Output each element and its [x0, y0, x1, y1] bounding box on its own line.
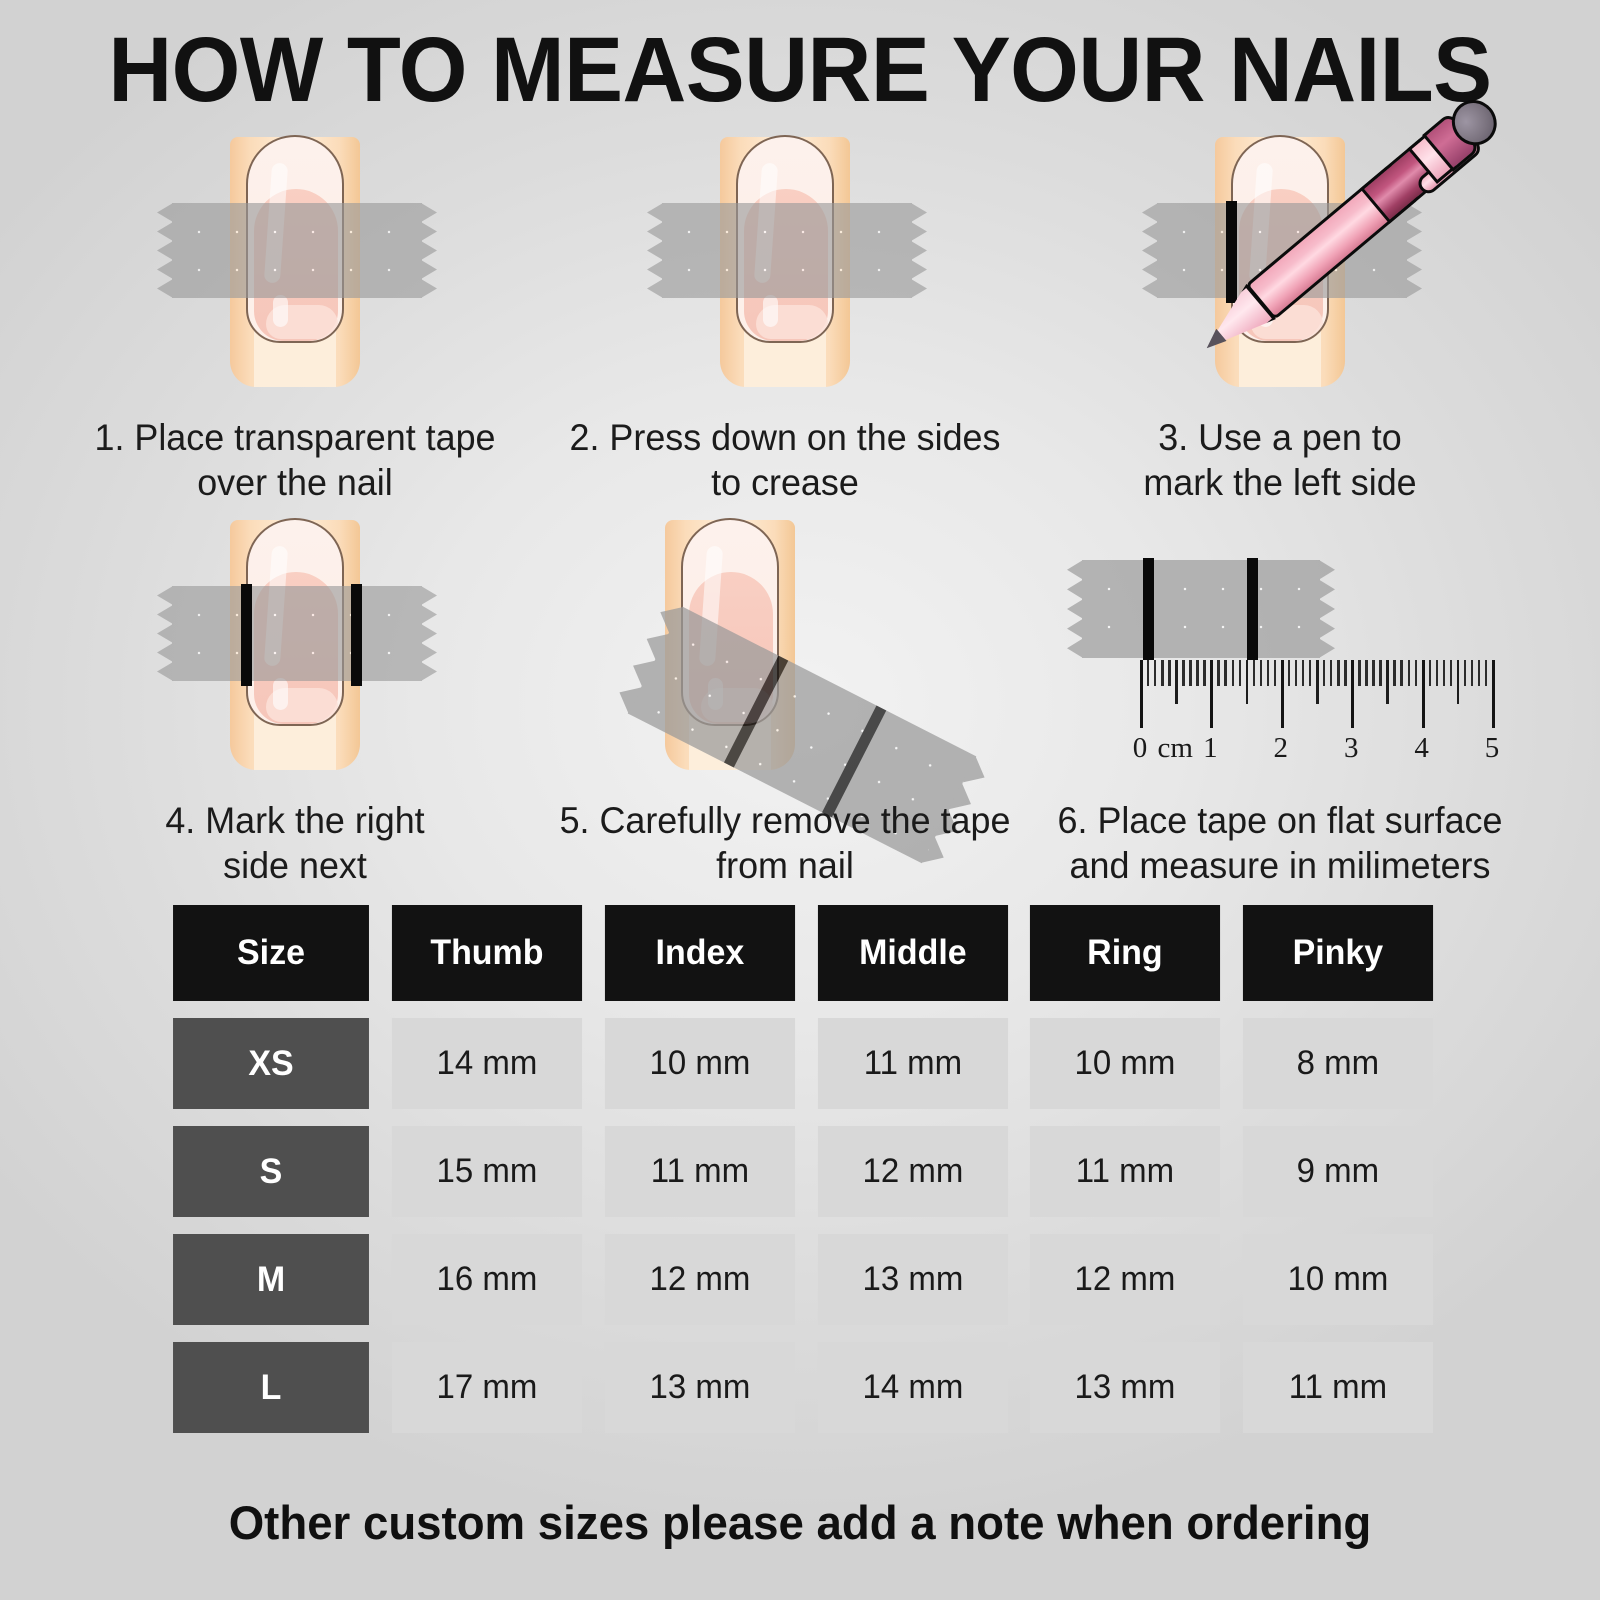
table-cell: 13 mm	[1030, 1342, 1220, 1433]
infographic-page: HOW TO MEASURE YOUR NAILS 1. Place trans…	[0, 0, 1600, 1600]
ruler-tick	[1492, 660, 1495, 728]
ruler-tick	[1323, 660, 1325, 686]
step-1-caption-line2: over the nail	[62, 460, 528, 505]
size-label: M	[173, 1234, 369, 1325]
step-6: 012345cm 6. Place tape on flat surface a…	[1040, 508, 1520, 888]
ruler-tick	[1471, 660, 1473, 686]
table-cell: 12 mm	[1030, 1234, 1220, 1325]
step-4-caption-line1: 4. Mark the right	[62, 798, 528, 843]
table-cell: 11 mm	[605, 1126, 795, 1217]
ruler-tick	[1161, 660, 1163, 686]
table-cell: 16 mm	[392, 1234, 582, 1325]
tape-texture	[1082, 560, 1320, 658]
step-5: 5. Carefully remove the tape from nail	[545, 508, 1025, 888]
ruler-tick	[1358, 660, 1360, 686]
step-2: 2. Press down on the sides to crease	[545, 125, 1025, 505]
table-cell: 13 mm	[605, 1342, 795, 1433]
step-6-illustration: 012345cm	[1040, 508, 1520, 798]
size-label: S	[173, 1126, 369, 1217]
tape-zigzag-left	[1142, 203, 1158, 298]
nail-shine-small-icon	[763, 295, 778, 327]
ruler-tick	[1217, 660, 1219, 686]
table-cell: 12 mm	[605, 1234, 795, 1325]
ruler-labels: 012345cm	[1140, 732, 1492, 768]
step-3-illustration	[1040, 125, 1520, 415]
ruler-label: 5	[1485, 732, 1500, 765]
ruler-tick	[1267, 660, 1269, 686]
ruler-tick	[1260, 660, 1262, 686]
table-cell: 9 mm	[1243, 1126, 1433, 1217]
step-6-caption: 6. Place tape on flat surface and measur…	[1047, 798, 1513, 888]
tape-texture	[662, 203, 912, 298]
ruler: 012345cm	[1140, 660, 1492, 770]
table-header-ring: Ring	[1030, 905, 1220, 1001]
step-6-caption-line2: and measure in milimeters	[1047, 843, 1513, 888]
tape-zigzag-right	[421, 586, 437, 681]
table-cell: 10 mm	[605, 1018, 795, 1109]
table-header-middle: Middle	[818, 905, 1008, 1001]
table-row: XS 14 mm 10 mm 11 mm 10 mm 8 mm	[170, 1018, 1436, 1109]
step-5-illustration	[545, 508, 1025, 798]
step-2-caption-line2: to crease	[552, 460, 1018, 505]
tape-zigzag-right	[911, 203, 927, 298]
ruler-tick	[1422, 660, 1425, 728]
step-5-caption-line1: 5. Carefully remove the tape	[552, 798, 1018, 843]
step-3: 3. Use a pen to mark the left side	[1040, 125, 1520, 505]
ruler-tick	[1436, 660, 1438, 686]
ruler-tick	[1415, 660, 1417, 686]
ruler-label: 1	[1203, 732, 1218, 765]
tape-zigzag-left	[157, 203, 173, 298]
tape-strip	[662, 203, 912, 298]
table-cell: 8 mm	[1243, 1018, 1433, 1109]
ruler-tick	[1281, 660, 1284, 728]
step-1-illustration	[55, 125, 535, 415]
ruler-tick	[1288, 660, 1290, 686]
tape-texture	[172, 203, 422, 298]
step-1: 1. Place transparent tape over the nail	[55, 125, 535, 505]
step-1-caption-line1: 1. Place transparent tape	[62, 415, 528, 460]
step-5-caption-line2: from nail	[552, 843, 1018, 888]
tape-strip	[1082, 560, 1320, 658]
table-cell: 14 mm	[392, 1018, 582, 1109]
tape-zigzag-right	[1319, 560, 1335, 658]
right-edge-mark	[351, 584, 362, 686]
tape-zigzag-right	[421, 203, 437, 298]
ruler-tick	[1154, 660, 1156, 686]
step-4-illustration	[55, 508, 535, 798]
ruler-tick	[1182, 660, 1184, 686]
step-4: 4. Mark the right side next	[55, 508, 535, 888]
tape-zigzag-right	[1406, 203, 1422, 298]
tape-texture	[172, 586, 422, 681]
step-2-caption: 2. Press down on the sides to crease	[552, 415, 1018, 505]
ruler-label: 2	[1274, 732, 1289, 765]
ruler-tick	[1330, 660, 1332, 686]
ruler-tick	[1224, 660, 1226, 686]
ruler-tick	[1393, 660, 1395, 686]
ruler-label: 0	[1133, 732, 1148, 765]
left-edge-mark	[1143, 558, 1154, 660]
table-header-row: Size Thumb Index Middle Ring Pinky	[170, 905, 1436, 1001]
ruler-tick	[1351, 660, 1354, 728]
step-6-caption-line1: 6. Place tape on flat surface	[1047, 798, 1513, 843]
ruler-tick	[1309, 660, 1311, 686]
ruler-tick	[1246, 660, 1249, 704]
ruler-tick	[1408, 660, 1410, 686]
ruler-tick	[1429, 660, 1431, 686]
ruler-tick	[1203, 660, 1205, 686]
ruler-tick	[1140, 660, 1143, 728]
table-row: L 17 mm 13 mm 14 mm 13 mm 11 mm	[170, 1342, 1436, 1433]
ruler-label: 3	[1344, 732, 1359, 765]
ruler-tick	[1478, 660, 1480, 686]
ruler-tick	[1147, 660, 1149, 686]
left-edge-mark	[241, 584, 252, 686]
table-cell: 17 mm	[392, 1342, 582, 1433]
size-label: L	[173, 1342, 369, 1433]
table-cell: 12 mm	[818, 1126, 1008, 1217]
ruler-ticks	[1140, 660, 1492, 730]
ruler-tick	[1450, 660, 1452, 686]
tape-zigzag-left	[1067, 560, 1083, 658]
step-2-illustration	[545, 125, 1025, 415]
nail-shine-small-icon	[273, 678, 288, 710]
table-header-index: Index	[605, 905, 795, 1001]
ruler-tick	[1365, 660, 1367, 686]
ruler-tick	[1295, 660, 1297, 686]
table-row: M 16 mm 12 mm 13 mm 12 mm 10 mm	[170, 1234, 1436, 1325]
table-cell: 10 mm	[1030, 1018, 1220, 1109]
ruler-tick	[1189, 660, 1191, 686]
right-edge-mark	[1247, 558, 1258, 660]
nail-shine-small-icon	[273, 295, 288, 327]
step-2-caption-line1: 2. Press down on the sides	[552, 415, 1018, 460]
table-cell: 14 mm	[818, 1342, 1008, 1433]
ruler-tick	[1443, 660, 1445, 686]
ruler-label: 4	[1414, 732, 1429, 765]
tape-strip	[172, 586, 422, 681]
ruler-tick	[1386, 660, 1389, 704]
step-4-caption: 4. Mark the right side next	[62, 798, 528, 888]
table-cell: 11 mm	[1243, 1342, 1433, 1433]
ruler-tick	[1210, 660, 1213, 728]
step-1-caption: 1. Place transparent tape over the nail	[62, 415, 528, 505]
footer-note: Other custom sizes please add a note whe…	[24, 1495, 1576, 1550]
ruler-tick	[1379, 660, 1381, 686]
step-3-caption: 3. Use a pen to mark the left side	[1047, 415, 1513, 505]
table-cell: 11 mm	[818, 1018, 1008, 1109]
ruler-unit-label: cm	[1157, 732, 1192, 765]
ruler-tick	[1253, 660, 1255, 686]
step-5-caption: 5. Carefully remove the tape from nail	[552, 798, 1018, 888]
table-cell: 15 mm	[392, 1126, 582, 1217]
table-header-size: Size	[173, 905, 369, 1001]
ruler-tick	[1302, 660, 1304, 686]
ruler-tick	[1400, 660, 1402, 686]
table-header-thumb: Thumb	[392, 905, 582, 1001]
ruler-tick	[1316, 660, 1319, 704]
ruler-tick	[1274, 660, 1276, 686]
ruler-tick	[1457, 660, 1460, 704]
ruler-tick	[1168, 660, 1170, 686]
table-header-pinky: Pinky	[1243, 905, 1433, 1001]
step-3-caption-line2: mark the left side	[1047, 460, 1513, 505]
ruler-tick	[1175, 660, 1178, 704]
tape-zigzag-left	[157, 586, 173, 681]
ruler-tick	[1239, 660, 1241, 686]
ruler-tick	[1196, 660, 1198, 686]
size-label: XS	[173, 1018, 369, 1109]
table-cell: 13 mm	[818, 1234, 1008, 1325]
ruler-tick	[1337, 660, 1339, 686]
size-chart-table: Size Thumb Index Middle Ring Pinky XS 14…	[170, 905, 1436, 1450]
step-3-caption-line1: 3. Use a pen to	[1047, 415, 1513, 460]
ruler-tick	[1372, 660, 1374, 686]
ruler-tick	[1464, 660, 1466, 686]
table-cell: 11 mm	[1030, 1126, 1220, 1217]
table-cell: 10 mm	[1243, 1234, 1433, 1325]
ruler-tick	[1232, 660, 1234, 686]
tape-strip	[172, 203, 422, 298]
ruler-tick	[1485, 660, 1487, 686]
table-row: S 15 mm 11 mm 12 mm 11 mm 9 mm	[170, 1126, 1436, 1217]
step-4-caption-line2: side next	[62, 843, 528, 888]
page-title: HOW TO MEASURE YOUR NAILS	[32, 20, 1568, 120]
left-edge-mark	[1226, 201, 1237, 303]
tape-zigzag-left	[647, 203, 663, 298]
ruler-tick	[1344, 660, 1346, 686]
